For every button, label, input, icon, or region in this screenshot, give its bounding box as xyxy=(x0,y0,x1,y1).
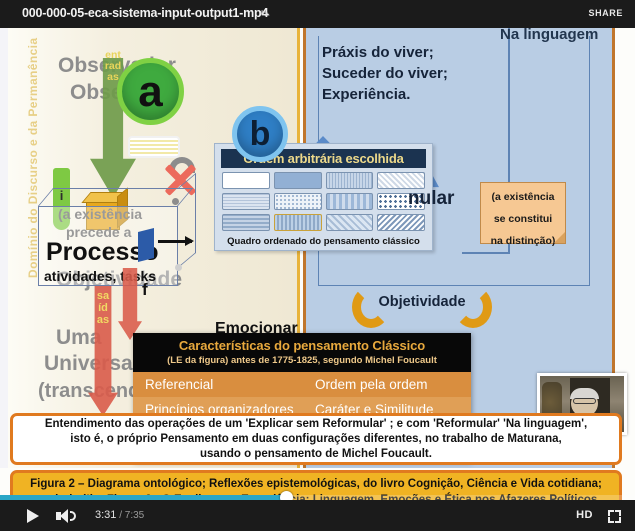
corner-dot-icon xyxy=(175,264,182,271)
process-box-top-face xyxy=(38,188,193,206)
explanation-line-1: Entendimento das operações de um 'Explic… xyxy=(45,418,587,430)
output-arrow-icon xyxy=(158,240,192,243)
row-label: Referencial xyxy=(145,377,315,392)
postit-line-2: se constitui xyxy=(481,205,565,227)
fullscreen-corner-icon xyxy=(608,510,614,516)
quadro-grid xyxy=(215,172,432,231)
fullscreen-corner-icon xyxy=(608,517,614,523)
fullscreen-button[interactable] xyxy=(608,510,621,523)
f-label: f xyxy=(142,280,148,300)
video-frame[interactable]: Domínio do Discurso e da Permanência Obs… xyxy=(0,28,635,503)
characteristics-subtitle: (LE da figura) antes de 1775-1825, segun… xyxy=(133,355,471,366)
reformular-label: nular xyxy=(408,188,454,210)
explanation-text: Entendimento das operações de um 'Explic… xyxy=(39,417,593,462)
quadro-cell xyxy=(274,193,322,210)
quadro-cell xyxy=(222,214,270,231)
share-button[interactable]: SHARE xyxy=(588,8,623,18)
marker-bubble-b-label: b xyxy=(237,111,283,157)
slide-left-strip xyxy=(0,28,8,468)
player-controls-bar: 3:31 / 7:35 HD xyxy=(0,500,635,531)
quadro-footer: Quadro ordenado do pensamento clássico xyxy=(215,236,432,247)
quadro-cell xyxy=(377,214,425,231)
quadro-cell xyxy=(274,214,322,231)
row-value: Ordem pela ordem xyxy=(315,377,459,392)
quadro-cell xyxy=(326,193,374,210)
explanation-line-2: isto é, o próprio Pensamento em duas con… xyxy=(70,433,561,445)
play-button[interactable] xyxy=(27,509,39,523)
quadro-cell xyxy=(222,193,270,210)
saidas-label: saídas xyxy=(96,290,110,326)
video-title: 000-000-05-eca-sistema-input-output1-mp4 xyxy=(22,6,268,20)
fullscreen-corner-icon xyxy=(615,517,621,523)
explanation-line-3: usando o pensamento de Michel Foucault. xyxy=(200,448,432,460)
caption-line-1: Figura 2 – Diagrama ontológico; Reflexõe… xyxy=(30,478,602,490)
fullscreen-corner-icon xyxy=(615,510,621,516)
blue-flag-icon xyxy=(138,228,154,262)
photo-glasses xyxy=(573,398,596,404)
praxis-line-2: Suceder do viver; xyxy=(322,63,448,84)
quadro-cell xyxy=(326,172,374,189)
total-time: 7:35 xyxy=(125,510,144,521)
marker-bubble-a: a xyxy=(117,58,184,125)
process-box-side-face xyxy=(178,173,196,268)
characteristics-header: Características do pensamento Clássico (… xyxy=(133,333,471,372)
praxis-text-block: Práxis do viver; Suceder do viver; Exper… xyxy=(322,42,448,105)
time-display: 3:31 / 7:35 xyxy=(95,509,144,521)
na-linguagem-label: Na linguagem xyxy=(500,28,598,43)
characteristics-title: Características do pensamento Clássico xyxy=(133,338,471,353)
volume-button[interactable] xyxy=(56,509,80,523)
time-separator: / xyxy=(116,510,124,521)
praxis-line-3: Experiência. xyxy=(322,84,448,105)
process-subtitle: atividades, tasks xyxy=(44,268,156,284)
explanation-band: Entendimento das operações de um 'Explic… xyxy=(10,413,622,465)
quadro-cell xyxy=(274,172,322,189)
table-row: Referencial Ordem pela ordem xyxy=(133,372,471,397)
quadro-cell xyxy=(326,214,374,231)
quality-badge[interactable]: HD xyxy=(576,509,593,521)
postit-line-1: (a existência xyxy=(481,183,565,205)
marker-bubble-a-label: a xyxy=(122,63,179,120)
faint-word-universal: Universal xyxy=(44,352,139,376)
objetividade-group: Objetividade xyxy=(352,286,492,328)
player-top-bar: 000-000-05-eca-sistema-input-output1-mp4… xyxy=(0,0,635,28)
current-time: 3:31 xyxy=(95,509,116,521)
video-player: 000-000-05-eca-sistema-input-output1-mp4… xyxy=(0,0,635,531)
praxis-line-1: Práxis do viver; xyxy=(322,42,448,63)
quadro-cell xyxy=(377,172,425,189)
process-line-existencia: (a existência xyxy=(58,206,142,222)
pattern-tag-icon xyxy=(128,136,180,158)
postit-line-3: na distinção) xyxy=(481,227,565,249)
corner-dot-icon xyxy=(172,198,179,205)
postit-note: (a existência se constitui na distinção) xyxy=(480,182,566,244)
na-linguagem-connector-foot xyxy=(462,252,508,254)
quadro-cell xyxy=(222,172,270,189)
marker-bubble-b: b xyxy=(232,106,288,162)
speaker-cone-icon xyxy=(60,509,68,523)
objetividade-label: Objetividade xyxy=(352,294,492,310)
sound-wave-icon xyxy=(70,511,76,521)
